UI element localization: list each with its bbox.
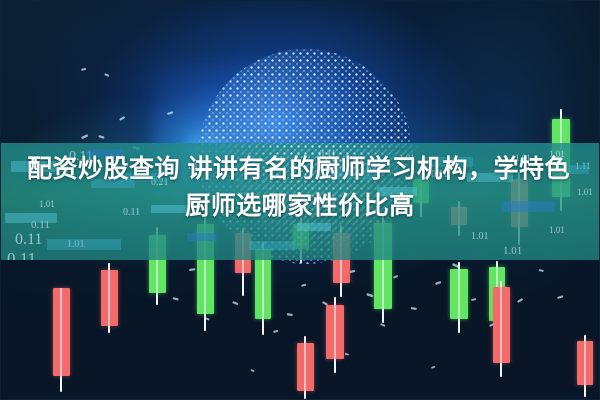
candlestick [577,335,593,397]
candlestick-body-down [493,287,510,363]
candlestick-body-up [450,269,468,319]
headline: 配资炒股查询 讲讲有名的厨师学习机构，学特色 厨师选哪家性价比高 [1,151,599,225]
candlestick [297,336,314,399]
data-chip [249,241,295,250]
candlestick-body-down [101,270,118,326]
price-label: 0.11 [15,231,42,249]
headline-line-2: 厨师选哪家性价比高 [185,188,415,225]
banner-image: 0.110.110.110.111.011.011.010.110.210.11… [0,0,600,400]
candlestick-body-down [297,343,314,391]
candlestick [450,262,468,333]
candlestick-body-down [326,305,344,359]
price-label: 1.01 [471,231,489,242]
price-label: 1.01 [503,245,522,257]
data-chip [47,239,121,250]
candlestick [326,297,344,373]
headline-line-1: 配资炒股查询 讲讲有名的厨师学习机构，学特色 [15,151,585,188]
price-label: 1.01 [549,225,565,235]
candlestick [53,296,70,392]
candlestick [493,281,510,377]
price-label: 0.11 [7,249,36,260]
data-chip [187,233,217,241]
price-label: 0.21 [223,143,249,148]
candlestick [101,263,118,333]
candlestick-body-down [577,341,593,385]
candlestick-body-down [53,288,70,376]
